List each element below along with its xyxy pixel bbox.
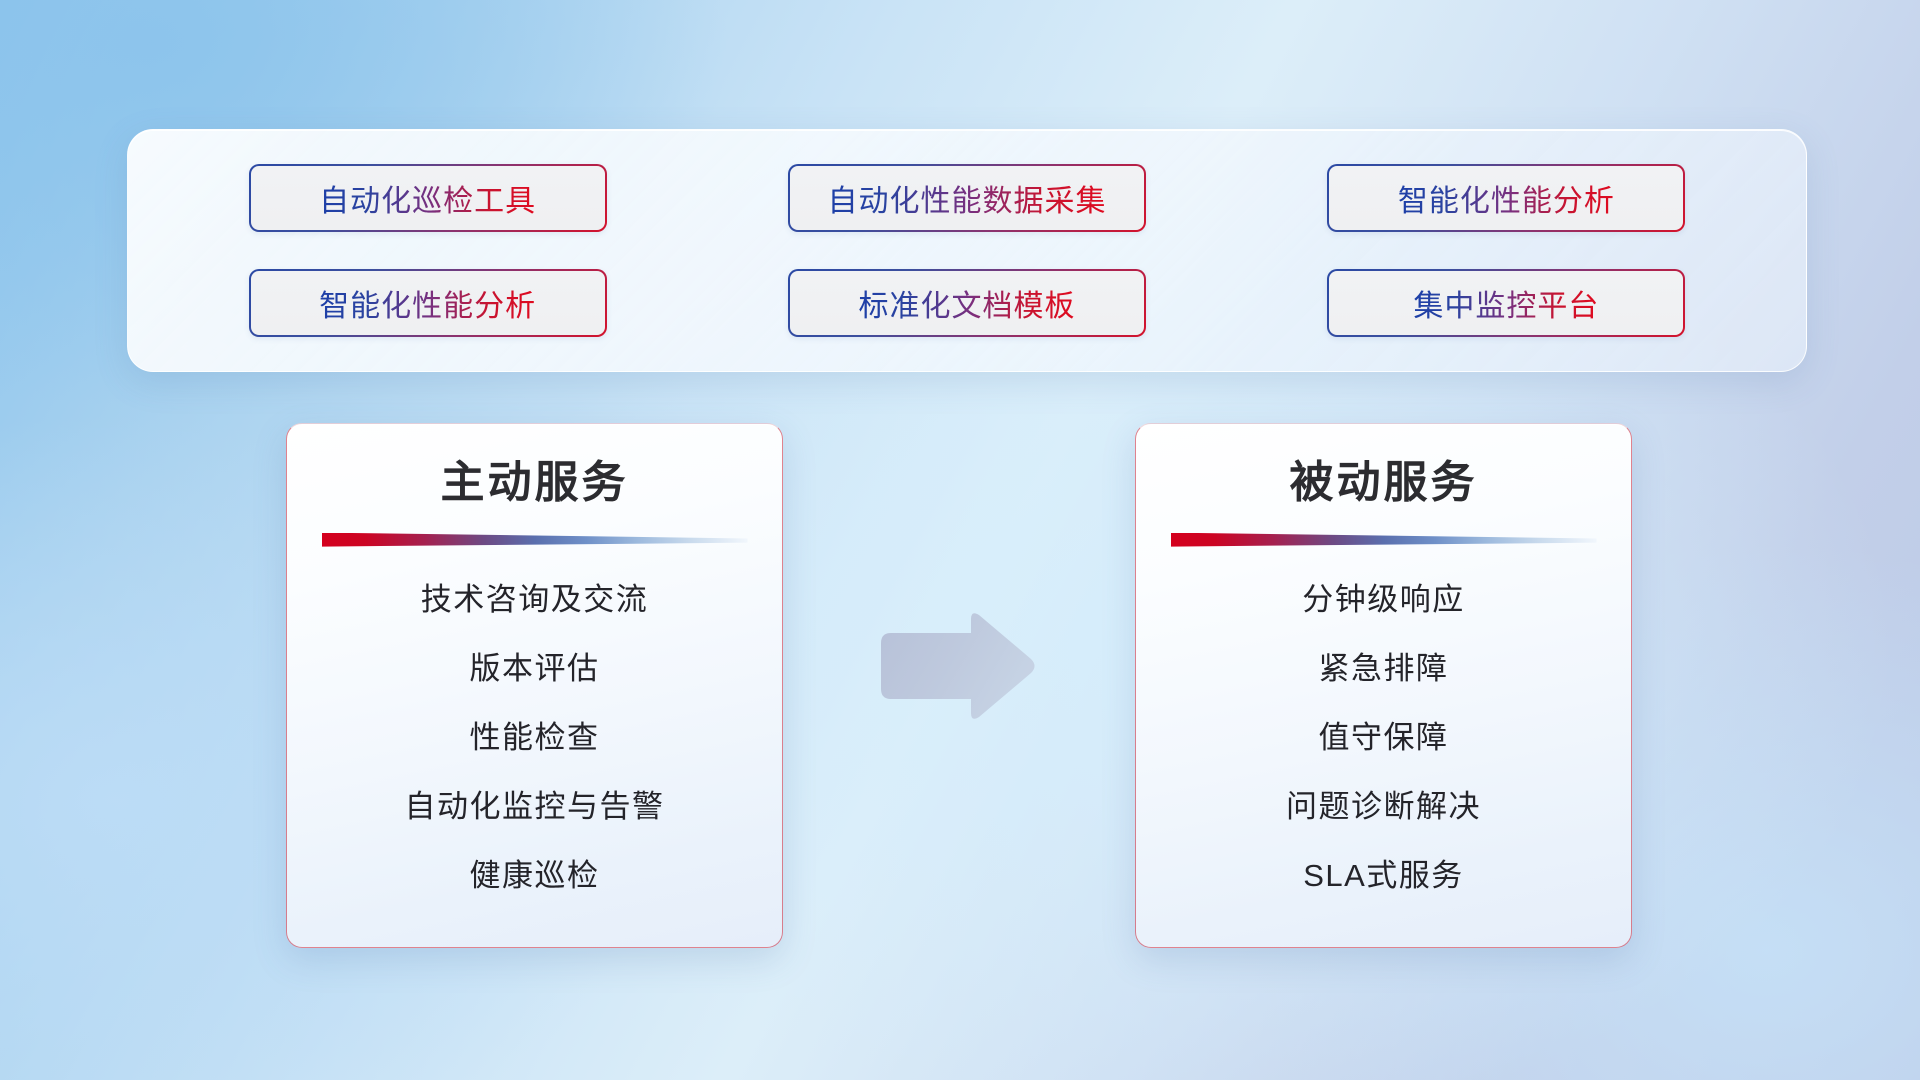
capability-pill[interactable]: 自动化性能数据采集 — [788, 164, 1146, 232]
divider-gradient-bar — [322, 533, 748, 547]
capability-label: 集中监控平台 — [1413, 281, 1599, 325]
service-item: 健康巡检 — [470, 857, 600, 894]
capability-pill[interactable]: 智能化性能分析 — [249, 269, 607, 337]
service-item: 紧急排障 — [1319, 650, 1449, 687]
card-title: 主动服务 — [441, 458, 629, 509]
capability-label: 标准化文档模板 — [858, 281, 1075, 325]
capabilities-panel: 自动化巡检工具 自动化性能数据采集 智能化性能分析 智能化性能分析 标准化文档模… — [127, 129, 1807, 372]
service-item: 版本评估 — [470, 650, 600, 687]
capability-label: 自动化性能数据采集 — [827, 176, 1106, 220]
arrow-right-icon — [875, 611, 1037, 721]
capability-label: 自动化巡检工具 — [319, 176, 536, 220]
capability-pill[interactable]: 标准化文档模板 — [788, 269, 1146, 337]
divider-gradient-bar — [1171, 533, 1597, 547]
service-item: 性能检查 — [470, 719, 600, 756]
service-card-active: 主动服务 技术咨询及交流 版本评估 性能检查 自动化监控与告警 健康巡检 — [286, 423, 783, 948]
service-item: 值守保障 — [1319, 719, 1449, 756]
capability-pill[interactable]: 自动化巡检工具 — [249, 164, 607, 232]
title-divider — [1171, 533, 1597, 547]
service-card-passive: 被动服务 分钟级响应 紧急排障 值守保障 问题诊断解决 SLA式服务 — [1135, 423, 1632, 948]
card-title: 被动服务 — [1290, 458, 1478, 509]
service-item: 自动化监控与告警 — [405, 788, 665, 825]
diagram-canvas: 自动化巡检工具 自动化性能数据采集 智能化性能分析 智能化性能分析 标准化文档模… — [0, 0, 1920, 1080]
capability-label: 智能化性能分析 — [1398, 176, 1615, 220]
capability-pill[interactable]: 集中监控平台 — [1327, 269, 1685, 337]
service-item: SLA式服务 — [1303, 857, 1464, 894]
service-item: 问题诊断解决 — [1286, 788, 1481, 825]
capability-pill[interactable]: 智能化性能分析 — [1327, 164, 1685, 232]
service-item: 分钟级响应 — [1302, 581, 1465, 618]
service-item-list: 分钟级响应 紧急排障 值守保障 问题诊断解决 SLA式服务 — [1162, 581, 1605, 895]
capability-label: 智能化性能分析 — [319, 281, 536, 325]
service-item: 技术咨询及交流 — [421, 581, 649, 618]
title-divider — [322, 533, 748, 547]
service-item-list: 技术咨询及交流 版本评估 性能检查 自动化监控与告警 健康巡检 — [313, 581, 756, 895]
